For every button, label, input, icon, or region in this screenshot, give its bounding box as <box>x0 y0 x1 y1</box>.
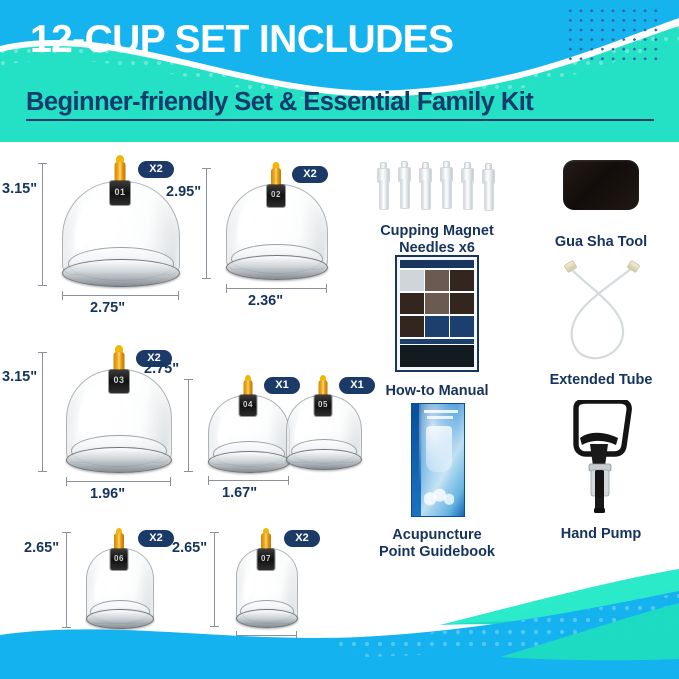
cup-valve-01: 01 <box>106 155 134 211</box>
cup-valve-03: 03 <box>106 345 132 399</box>
poster-title-bar <box>400 260 474 268</box>
gua-sha-icon <box>563 160 639 212</box>
cup-item-01: 01 X2 3.15" 2.75" <box>22 155 182 305</box>
cup-quantity-badge-07: X2 <box>284 530 320 547</box>
accessory-label-hand-pump: Hand Pump <box>522 526 679 543</box>
accessory-label-line1: Hand Pump <box>522 526 679 543</box>
cup-height-label-02: 2.95" <box>166 184 201 200</box>
infographic-page: 12-CUP SET INCLUDES Beginner-friendly Se… <box>0 0 679 679</box>
tube-icon <box>546 258 656 366</box>
cup-rim-05 <box>286 449 362 470</box>
cup-image-02: 02 X2 2.95" 2.36" <box>188 162 338 305</box>
cup-height-label-01: 3.15" <box>2 181 37 197</box>
accessory-label-magnet-needles: Cupping Magnet Needles x6 <box>352 223 522 257</box>
accessory-label-acupuncture-guidebook: Acupuncture Point Guidebook <box>352 527 522 561</box>
cup-rim-01 <box>62 259 180 287</box>
cup-height-label-03: 3.15" <box>2 369 37 385</box>
needle-icon <box>377 160 497 212</box>
cup-width-label-01: 2.75" <box>90 300 125 316</box>
accessory-acupuncture-guidebook: Acupuncture Point Guidebook <box>352 403 522 561</box>
accessory-label-line1: Cupping Magnet <box>352 223 522 240</box>
cup-height-label-06: 2.65" <box>24 540 59 556</box>
accessory-label-line1: How-to Manual <box>352 383 522 400</box>
poster-step-grid <box>400 270 474 338</box>
cup-valve-05: 05 <box>312 375 334 419</box>
cup-rim-02 <box>226 255 328 280</box>
cup-valve-02: 02 <box>264 162 288 212</box>
header-banner: 12-CUP SET INCLUDES Beginner-friendly Se… <box>0 0 679 142</box>
tube-path <box>546 258 656 366</box>
book-icon <box>411 403 463 515</box>
cup-valve-07: 07 <box>255 528 277 572</box>
cup-item-02: 02 X2 2.95" 2.36" <box>188 162 338 305</box>
accessory-label-line1: Gua Sha Tool <box>522 234 679 251</box>
page-subtitle: Beginner-friendly Set & Essential Family… <box>26 89 654 116</box>
footer-wave-graphic <box>0 569 679 679</box>
cup-number-02: 02 <box>271 190 281 199</box>
cup-quantity-badge-02: X2 <box>292 166 328 183</box>
subtitle-block: Beginner-friendly Set & Essential Family… <box>26 89 654 121</box>
poster-icon <box>395 255 479 372</box>
subtitle-underline <box>26 119 654 121</box>
cup-width-label-04: 1.67" <box>222 485 257 501</box>
accessory-label-line1: Extended Tube <box>522 372 679 389</box>
accessory-how-to-manual: How-to Manual <box>352 255 522 400</box>
accessory-label-extended-tube: Extended Tube <box>522 372 679 389</box>
cup-number-03: 03 <box>113 375 124 385</box>
cup-quantity-badge-06: X2 <box>138 530 174 547</box>
cup-height-label-07: 2.65" <box>172 540 207 556</box>
cup-width-label-03: 1.96" <box>90 486 125 502</box>
cup-number-07: 07 <box>261 554 271 563</box>
cup-number-04: 04 <box>243 400 253 409</box>
dot-grid-icon <box>565 6 661 64</box>
cup-rim-03 <box>66 447 172 473</box>
cup-valve-04: 04 <box>237 375 259 419</box>
accessory-label-line2: Point Guidebook <box>352 544 522 561</box>
cup-number-01: 01 <box>114 187 125 197</box>
cup-height-label-04: 2.75" <box>144 361 179 377</box>
page-title: 12-CUP SET INCLUDES <box>30 20 453 59</box>
footer-banner <box>0 569 679 679</box>
accessory-magnet-needles: Cupping Magnet Needles x6 <box>352 160 522 257</box>
accessory-extended-tube: Extended Tube <box>522 258 679 389</box>
cup-number-06: 06 <box>114 554 124 563</box>
accessory-label-line1: Acupuncture <box>352 527 522 544</box>
accessory-gua-sha: Gua Sha Tool <box>522 160 679 251</box>
accessory-label-how-to-manual: How-to Manual <box>352 383 522 400</box>
cup-valve-06: 06 <box>108 528 130 572</box>
cup-width-label-02: 2.36" <box>248 293 283 309</box>
pump-graphic <box>564 400 638 518</box>
cup-image-01: 01 X2 3.15" 2.75" <box>22 155 182 305</box>
accessory-label-gua-sha: Gua Sha Tool <box>522 234 679 251</box>
cup-number-05: 05 <box>318 400 328 409</box>
accessory-hand-pump: Hand Pump <box>522 400 679 543</box>
cup-quantity-badge-01: X2 <box>138 161 174 178</box>
pump-icon <box>564 400 638 518</box>
